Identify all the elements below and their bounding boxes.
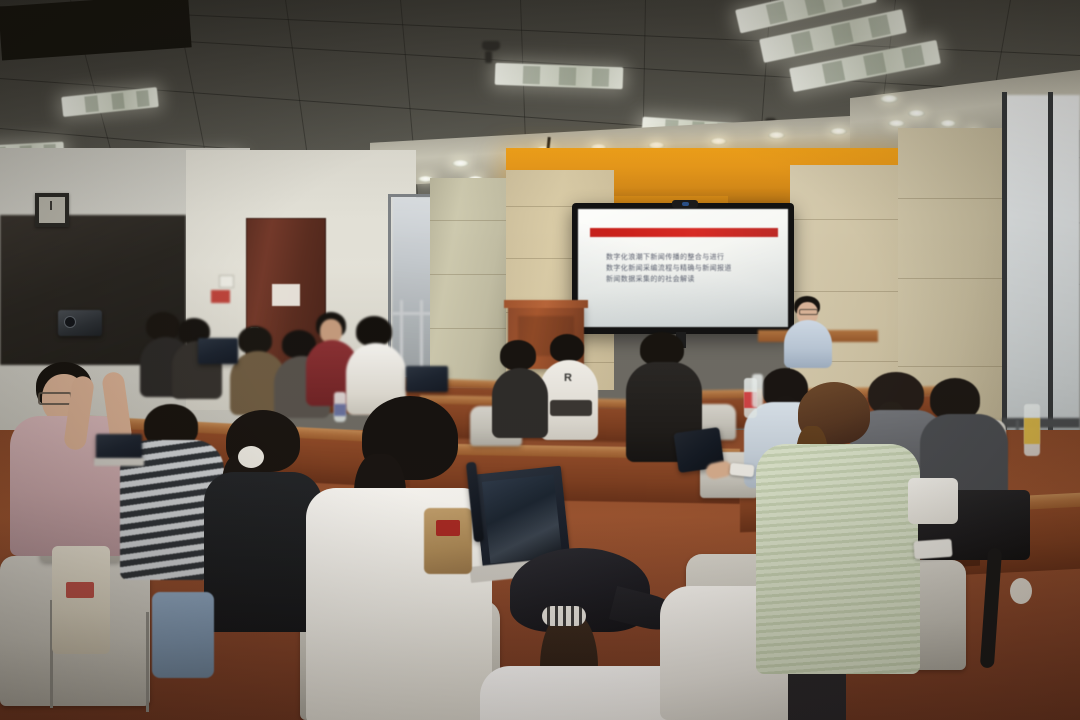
recessed-downlight	[452, 160, 469, 167]
lectern-top	[504, 300, 588, 308]
denim-jacket	[152, 592, 214, 678]
recessed-downlight	[830, 128, 847, 135]
laptop[interactable]	[198, 338, 238, 364]
hair-scrunchie	[238, 446, 264, 468]
photo-scene: 数字化浪潮下新闻传播的整合与进行 数字化新闻采编流程与精确与新闻报道 新闻数据采…	[0, 0, 1080, 720]
recessed-downlight	[888, 120, 905, 127]
camera-lens-icon	[682, 202, 689, 206]
window-railing	[420, 300, 423, 370]
recessed-downlight	[940, 120, 956, 127]
wall-clock-icon	[35, 193, 69, 227]
beaded-hair-tie	[542, 606, 586, 626]
door-notice-sign	[272, 284, 300, 306]
bottle-label	[1024, 418, 1040, 444]
ceiling-light-panel	[495, 63, 624, 89]
tote-bag	[52, 546, 110, 654]
wall-column	[430, 178, 506, 388]
ceiling-speaker	[482, 41, 500, 51]
camera-lens-icon	[64, 316, 76, 328]
bag-logo	[436, 520, 460, 536]
smartphone[interactable]	[913, 539, 952, 560]
recessed-downlight	[908, 110, 925, 117]
tissue-pack	[908, 478, 958, 524]
water-bottle	[752, 374, 763, 408]
bag-logo	[66, 582, 94, 598]
ceiling-speaker	[485, 51, 492, 63]
laptop[interactable]	[96, 434, 142, 460]
laptop[interactable]	[406, 366, 448, 392]
recessed-downlight	[768, 132, 785, 139]
eyeglasses-icon	[38, 392, 72, 405]
laptop-keyboard[interactable]	[94, 458, 144, 466]
window-sill	[1002, 418, 1080, 428]
chair-leg	[146, 612, 149, 712]
smartphone[interactable]	[729, 463, 754, 477]
light-switch-panel[interactable]	[219, 275, 234, 288]
tote-bag	[424, 508, 472, 574]
recessed-downlight	[710, 138, 727, 145]
bag-charm	[1010, 578, 1032, 604]
tshirt-letter: R	[564, 372, 573, 384]
recessed-downlight	[880, 95, 898, 103]
laptop-screen-content	[482, 474, 562, 563]
red-warning-sign	[211, 290, 230, 303]
bottle-label	[334, 404, 346, 416]
screen-glare	[578, 209, 788, 327]
